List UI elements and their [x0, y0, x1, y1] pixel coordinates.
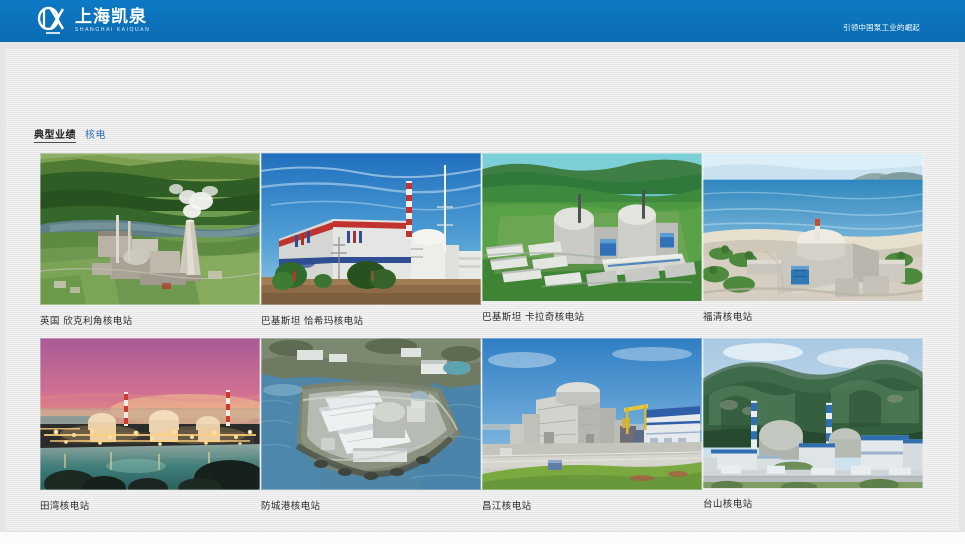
project-caption: 福清核电站 [703, 309, 923, 323]
brand-name-en: SHANGHAI KAIQUAN [75, 28, 150, 33]
gallery-item[interactable]: 昌江核电站 [482, 338, 702, 512]
project-caption: 台山核电站 [703, 496, 923, 510]
project-caption: 田湾核电站 [40, 498, 260, 512]
project-caption: 英国 欣克利角核电站 [40, 313, 260, 327]
gallery-item[interactable]: 福清核电站 [703, 153, 923, 327]
project-photo-tianwan[interactable] [40, 338, 260, 490]
project-photo-hinkley[interactable] [40, 153, 260, 305]
gallery-item[interactable]: 田湾核电站 [40, 338, 260, 512]
gallery-item[interactable]: 台山核电站 [703, 338, 923, 512]
header-slogan: 引领中国泵工业的崛起 [843, 22, 920, 33]
coastal-render-scene [703, 153, 923, 301]
section-subtitle[interactable]: 核电 [85, 126, 106, 141]
project-photo-fangchenggang[interactable] [261, 338, 481, 490]
project-photo-changjiang[interactable] [482, 338, 702, 490]
footer-strip [0, 532, 965, 544]
project-caption: 巴基斯坦 卡拉奇核电站 [482, 309, 702, 323]
kaiquan-kx-monogram-icon [36, 6, 70, 36]
header-inner: 上海凯泉 SHANGHAI KAIQUAN 引领中国泵工业的崛起 [0, 0, 965, 42]
project-photo-fuqing[interactable] [703, 153, 923, 301]
page-canvas: 典型业绩 核电 [0, 42, 965, 544]
dusk-illuminated-plant-scene [40, 338, 260, 490]
brand-wordmark: 上海凯泉 SHANGHAI KAIQUAN [75, 9, 149, 33]
page-title: 典型业绩 [34, 126, 76, 143]
aerial-peninsula-scene [261, 338, 481, 490]
gallery-item[interactable]: 巴基斯坦 卡拉奇核电站 [482, 153, 702, 327]
concrete-reactor-scene [482, 338, 702, 490]
project-photo-karachi[interactable] [482, 153, 702, 301]
project-gallery: 英国 欣克利角核电站 [40, 153, 925, 523]
render-twin-dome-scene [482, 153, 702, 301]
aerial-green-valley-scene [40, 153, 260, 305]
project-photo-taishan[interactable] [703, 338, 923, 488]
section-heading: 典型业绩 核电 [34, 126, 106, 143]
site-header: 上海凯泉 SHANGHAI KAIQUAN 引领中国泵工业的崛起 [0, 0, 965, 42]
project-caption: 昌江核电站 [482, 498, 702, 512]
project-photo-chashma[interactable] [261, 153, 481, 305]
mountain-backdrop-plant-scene [703, 338, 923, 488]
brand-logo[interactable]: 上海凯泉 SHANGHAI KAIQUAN [36, 5, 149, 37]
project-caption: 巴基斯坦 恰希玛核电站 [261, 313, 481, 327]
gallery-item[interactable]: 英国 欣克利角核电站 [40, 153, 260, 327]
project-caption: 防城港核电站 [261, 498, 481, 512]
turbine-hall-scene [261, 153, 481, 305]
brand-name-cn: 上海凯泉 [75, 9, 149, 26]
gallery-item[interactable]: 防城港核电站 [261, 338, 481, 512]
gallery-item[interactable]: 巴基斯坦 恰希玛核电站 [261, 153, 481, 327]
